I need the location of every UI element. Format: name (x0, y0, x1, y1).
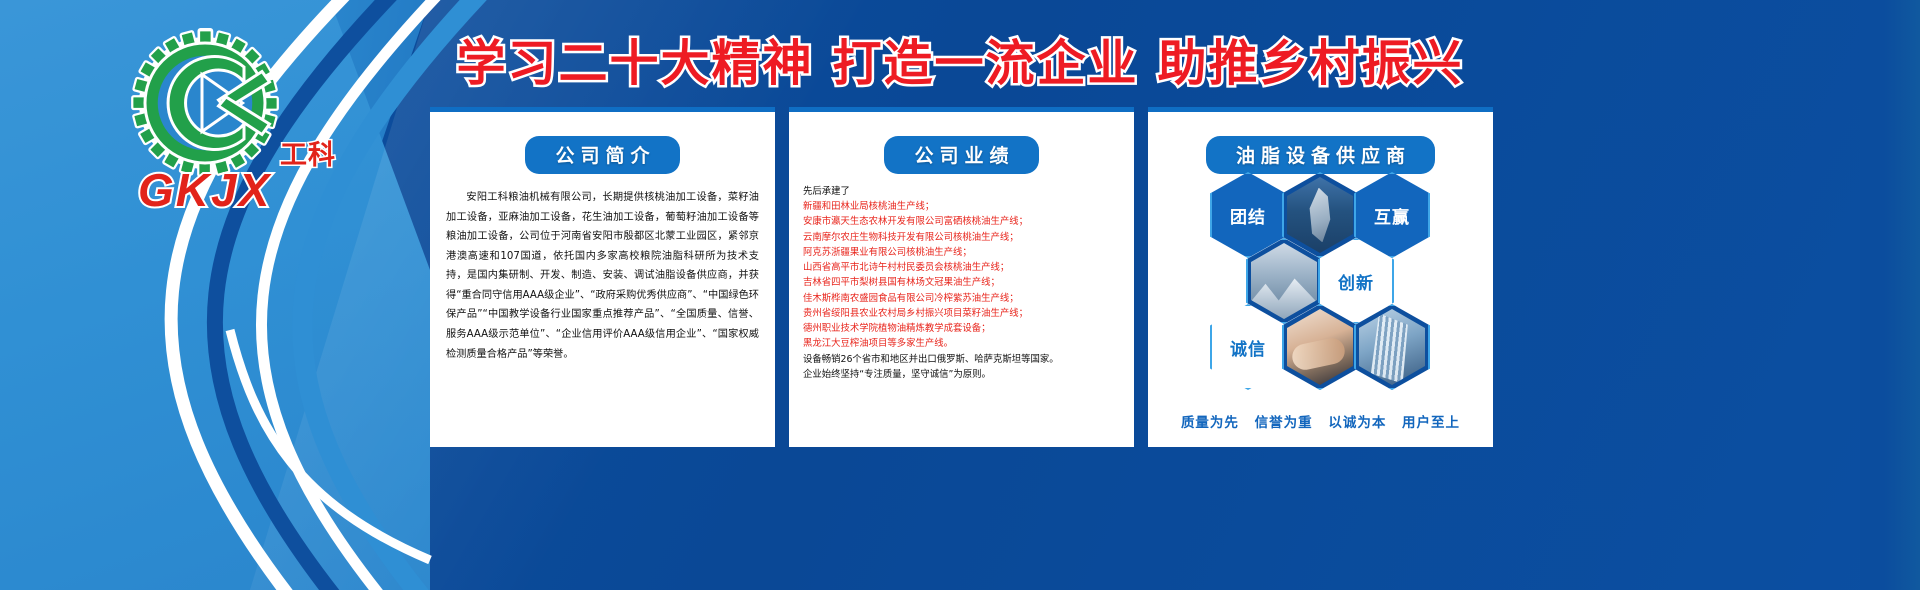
gear-gk-monogram-icon (130, 28, 280, 178)
mountain-photo-icon (1251, 243, 1317, 319)
company-profile-text: 安阳工科粮油机械有限公司，长期提供核桃油加工设备，菜籽油加工设备，亚麻油加工设备… (446, 188, 759, 364)
brand-name-cn: 工科 (280, 133, 336, 172)
slogan-part: 质量为先 (1181, 415, 1239, 431)
hex-label: 创新 (1338, 269, 1374, 294)
poster-root: 工科 GKJX 学习二十大精神 打造一流企业 助推乡村振兴 公司简介 安阳工科粮… (0, 0, 1920, 590)
brand-name-en: GKJX (138, 163, 271, 217)
list-item: 佳木斯桦南农盛园食品有限公司冷榨紫苏油生产线； (803, 291, 1122, 306)
panel-title-company-achievements: 公司业绩 (884, 136, 1038, 174)
slogan-part: 以诚为本 (1328, 415, 1386, 431)
hex-label: 团结 (1230, 203, 1266, 228)
slogan-part: 信誉为重 (1255, 415, 1313, 431)
achievements-footer-line: 企业始终坚持“专注质量，坚守诚信”为原则。 (803, 367, 1122, 382)
panel-company-achievements: 公司业绩 先后承建了 新疆和田林业局核桃油生产线； 安康市瀛天生态农林开发有限公… (789, 107, 1134, 447)
panel-oil-equipment-supplier: 油脂设备供应商 团结 互赢 创新 (1148, 107, 1493, 447)
achievements-list: 先后承建了 新疆和田林业局核桃油生产线； 安康市瀛天生态农林开发有限公司富硒核桃… (789, 174, 1134, 382)
page-title: 学习二十大精神 打造一流企业 助推乡村振兴 (430, 24, 1490, 95)
slogan-part: 用户至上 (1402, 415, 1460, 431)
list-item: 新疆和田林业局核桃油生产线； (803, 199, 1122, 214)
panels-container: 公司简介 安阳工科粮油机械有限公司，长期提供核桃油加工设备，菜籽油加工设备，亚麻… (430, 107, 1885, 447)
achievements-intro: 先后承建了 (803, 184, 1122, 199)
list-item: 贵州省绥阳县农业农村局乡村振兴项目菜籽油生产线； (803, 306, 1122, 321)
company-profile-body: 安阳工科粮油机械有限公司，长期提供核桃油加工设备，菜籽油加工设备，亚麻油加工设备… (430, 174, 775, 364)
panel-title-oil-equipment-supplier: 油脂设备供应商 (1206, 136, 1435, 174)
list-item: 山西省高平市北诗午村村民委员会核桃油生产线； (803, 260, 1122, 275)
hex-label: 互赢 (1374, 203, 1410, 228)
list-item: 云南摩尔农庄生物科技开发有限公司核桃油生产线； (803, 230, 1122, 245)
right-blue-edge (1884, 0, 1920, 590)
list-item: 吉林省四平市梨树县国有林场文冠果油生产线； (803, 275, 1122, 290)
panel-company-profile: 公司简介 安阳工科粮油机械有限公司，长期提供核桃油加工设备，菜籽油加工设备，亚麻… (430, 107, 775, 447)
achievements-footer-line: 设备畅销26个省市和地区并出口俄罗斯、哈萨克斯坦等国家。 (803, 352, 1122, 367)
aircraft-carrier-photo-icon (1287, 177, 1353, 253)
list-item: 阿克苏浙疆果业有限公司核桃油生产线； (803, 245, 1122, 260)
list-item: 黑龙江大豆榨油项目等多家生产线。 (803, 336, 1122, 351)
panel-title-company-profile: 公司简介 (525, 136, 679, 174)
handshake-photo-icon (1287, 309, 1353, 385)
brand-logo: 工科 GKJX (120, 28, 340, 218)
hexagon-cluster: 团结 互赢 创新 诚信 (1148, 172, 1493, 392)
supplier-slogan: 质量为先 信誉为重 以诚为本 用户至上 (1148, 411, 1493, 431)
list-item: 安康市瀛天生态农林开发有限公司富硒核桃油生产线； (803, 214, 1122, 229)
hex-label: 诚信 (1230, 335, 1266, 360)
list-item: 德州职业技术学院植物油精炼教学成套设备； (803, 321, 1122, 336)
building-photo-icon (1359, 309, 1425, 385)
